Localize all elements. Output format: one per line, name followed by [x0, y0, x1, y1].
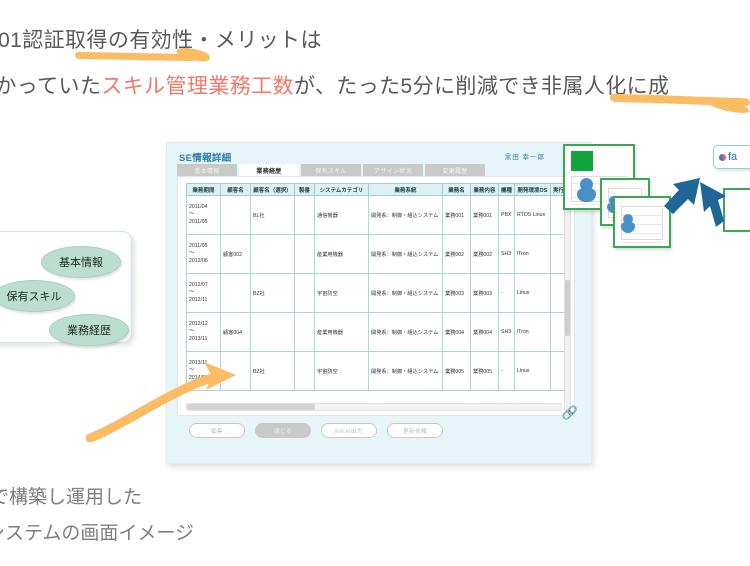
orange-curved-arrow [86, 352, 256, 442]
caption-line-2: システムの画面イメージ [0, 518, 194, 545]
blue-arrow-up-right-icon [664, 178, 700, 214]
blue-arrow-up-left-icon [700, 182, 726, 227]
caption-line-1: で構築し運用した [0, 482, 142, 509]
slide-canvas: 001認証取得の有効性・メリットは かかっていたスキル管理業務工数が、たった5分… [0, 0, 750, 566]
